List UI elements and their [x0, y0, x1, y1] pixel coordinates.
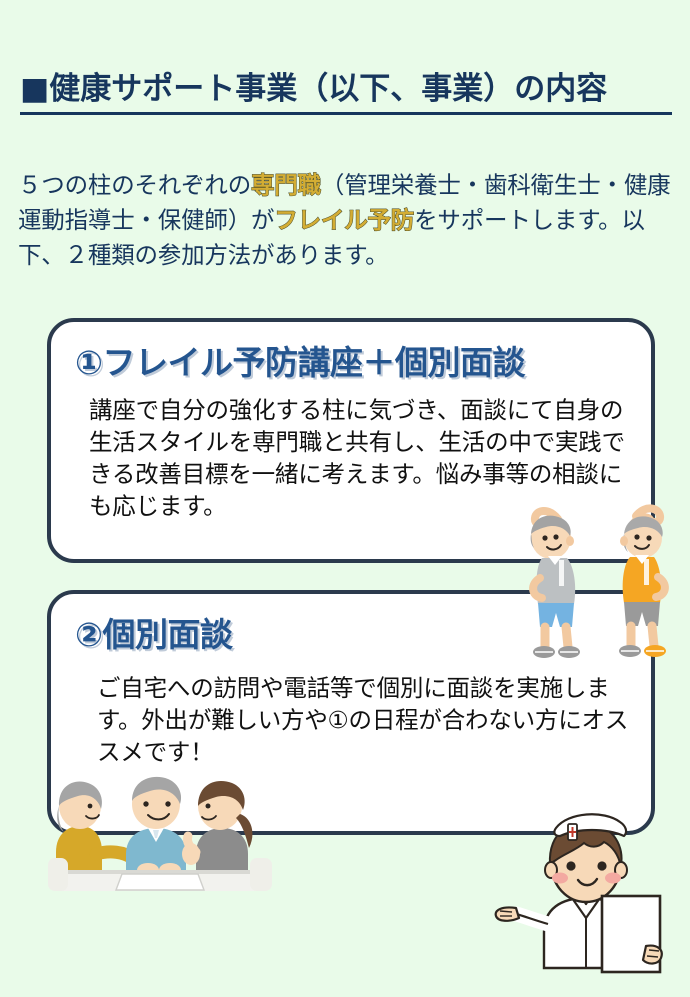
page-title: ■健康サポート事業（以下、事業）の内容 — [20, 72, 672, 115]
page-title-text: ■健康サポート事業（以下、事業）の内容 — [20, 72, 672, 106]
intro-line1-pre: ５つの柱のそれぞれの — [18, 171, 251, 199]
intro-paragraph: ５つの柱のそれぞれの専門職（管理栄養士・歯科衛生士・健康運動指導士・保健師）がフ… — [18, 168, 682, 273]
poster-page: ■健康サポート事業（以下、事業）の内容 ５つの柱のそれぞれの専門職（管理栄養士・… — [0, 0, 690, 997]
three-people-at-table-illustration — [36, 766, 286, 891]
nurse-with-board-illustration — [486, 808, 690, 997]
intro-highlight-senmonshoku: 専門職 — [251, 171, 321, 199]
two-seniors-stretching-illustration — [518, 486, 678, 661]
intro-line2-post: をサポート — [414, 206, 531, 234]
intro-line1-post: （管理栄養士・歯科衛生士 — [321, 171, 601, 199]
program-card-2-heading: ②個別面談 — [75, 608, 232, 656]
intro-highlight-frail-yobou: フレイル予防 — [274, 206, 414, 234]
program-card-1-heading: ①フレイル予防講座＋個別面談 — [75, 336, 525, 384]
title-underline — [20, 112, 672, 115]
program-card-2-body: ご自宅への訪問や電話等で個別に面談を実施します。外出が難しい方や①の日程が合わな… — [97, 672, 633, 768]
